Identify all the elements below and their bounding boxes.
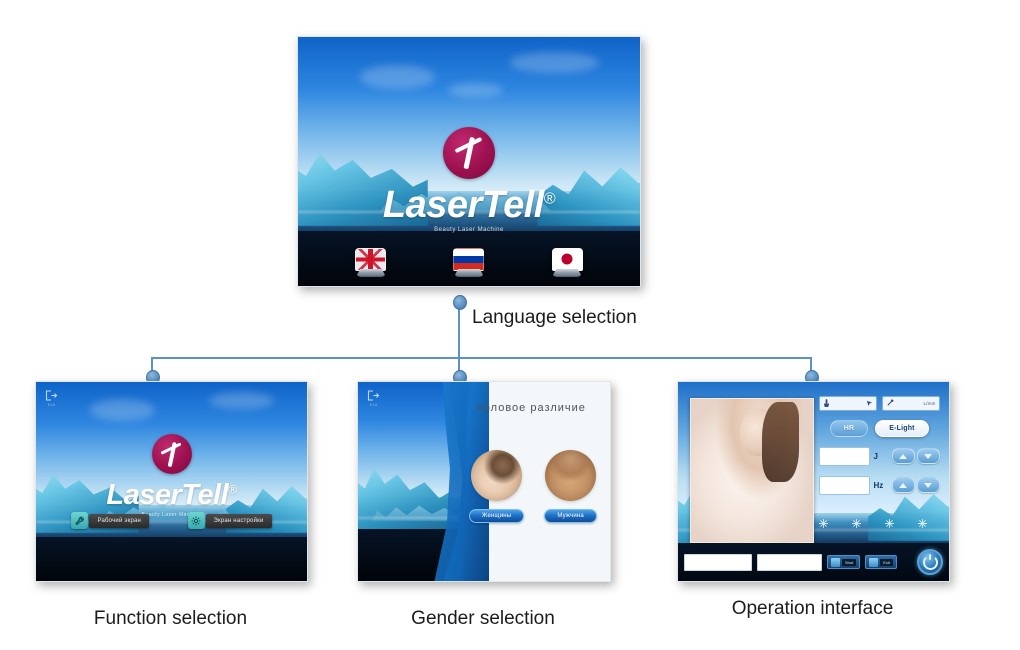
brand-name-text: LaserTell: [383, 184, 544, 226]
frequency-decrease-button[interactable]: [917, 477, 940, 493]
brand-name-text: LaserTell: [106, 479, 228, 511]
energy-parameter-row: J: [819, 447, 940, 466]
energy-steppers: [892, 448, 940, 464]
laser-emitter-icon: [152, 434, 192, 474]
language-flag-bar: [298, 239, 640, 286]
mode-button-elight[interactable]: E-Light: [875, 420, 929, 437]
diagram-canvas: Language selection LaserTell® Beauty Las…: [0, 0, 1020, 650]
triangle-down-icon: [924, 483, 932, 488]
energy-decrease-button[interactable]: [917, 448, 940, 464]
function-button-settings-screen[interactable]: Экран настройки: [188, 512, 272, 529]
frequency-unit-label: Hz: [874, 481, 888, 490]
gender-screen-content: Exit половое различие Женщины Мужчина: [358, 382, 610, 581]
gender-option-female[interactable]: Женщины: [469, 450, 524, 523]
energy-unit-label: J: [874, 452, 888, 461]
female-model-photo: [471, 450, 522, 501]
connector-horizontal-bus: [151, 357, 811, 359]
language-screen-content: LaserTell® Beauty Laser Machine: [298, 37, 640, 286]
triangle-down-icon: [924, 454, 932, 459]
spot-size-icon: [886, 399, 894, 407]
registered-mark: ®: [544, 190, 555, 207]
gender-button-label: Женщины: [469, 509, 524, 523]
user-icon: [831, 558, 840, 567]
action-button-exit[interactable]: Exit: [865, 555, 897, 569]
action-button-label: Exit: [880, 559, 893, 566]
registered-mark: ®: [228, 482, 236, 496]
cooling-icon: [819, 515, 828, 533]
gender-button-label: Мужчина: [544, 509, 597, 523]
status-field-2[interactable]: [757, 554, 822, 571]
brand-logo: LaserTell® Beauty Laser Machine: [36, 434, 307, 518]
function-button-row: Рабочий экран Экран настройки: [36, 512, 307, 529]
flag-uk-icon: [355, 248, 386, 271]
frequency-steppers: [892, 477, 940, 493]
function-button-label: Рабочий экран: [89, 514, 149, 528]
action-button-shot[interactable]: Shot: [827, 555, 860, 569]
operation-screen-content: L/mm HR E-Light J Hz: [678, 382, 949, 581]
cloud-decoration: [510, 52, 599, 72]
screen-function-selection[interactable]: Exit LaserTell® Beauty Laser Machine Раб…: [35, 381, 308, 582]
status-field-1[interactable]: [684, 554, 752, 571]
gear-icon: [188, 512, 205, 529]
power-icon: [923, 555, 938, 570]
handpiece-icon: [823, 399, 830, 408]
energy-increase-button[interactable]: [892, 448, 915, 464]
caption-gender-selection: Gender selection: [357, 608, 609, 630]
brand-logo: LaserTell® Beauty Laser Machine: [298, 127, 640, 233]
triangle-up-icon: [899, 454, 907, 459]
screen-operation-interface[interactable]: L/mm HR E-Light J Hz: [677, 381, 950, 582]
chevron-selector-icon: [866, 400, 873, 407]
cloud-decoration: [360, 65, 435, 90]
action-button-label: Shot: [842, 559, 856, 566]
caption-operation-interface: Operation interface: [677, 598, 948, 620]
connector-label-language: Language selection: [472, 307, 637, 329]
flag-stand: [454, 269, 484, 277]
exit-icon[interactable]: Exit: [45, 390, 58, 407]
handpiece-selector[interactable]: [819, 396, 877, 411]
bottom-dark-band: [36, 537, 307, 581]
exit-label: Exit: [45, 402, 58, 407]
caption-function-selection: Function selection: [35, 608, 306, 630]
flag-stand: [356, 269, 386, 277]
operation-status-bar: Shot Exit: [678, 543, 949, 581]
brand-tagline: Beauty Laser Machine: [298, 227, 640, 233]
screen-icon: [869, 558, 878, 567]
screen-language-selection[interactable]: LaserTell® Beauty Laser Machine: [297, 36, 641, 287]
cooling-level-row: [819, 515, 927, 533]
language-button-russian[interactable]: [451, 248, 487, 277]
laser-emitter-icon: [443, 127, 495, 179]
flag-stand: [552, 269, 582, 277]
operation-selector-row: L/mm: [819, 396, 940, 411]
screen-gender-selection[interactable]: Exit половое различие Женщины Мужчина: [357, 381, 611, 582]
flag-russia-icon: [453, 248, 484, 271]
gender-options-panel: половое различие Женщины Мужчина: [459, 382, 610, 581]
gender-option-male[interactable]: Мужчина: [544, 450, 597, 523]
function-screen-content: Exit LaserTell® Beauty Laser Machine Раб…: [36, 382, 307, 581]
cooling-icon: [918, 515, 927, 533]
gender-panel-title: половое различие: [459, 402, 604, 414]
exit-label: Exit: [367, 402, 380, 407]
exit-icon[interactable]: Exit: [367, 390, 380, 407]
energy-value-field[interactable]: [819, 447, 870, 466]
mode-button-hr[interactable]: HR: [830, 420, 869, 437]
function-button-label: Экран настройки: [206, 514, 272, 528]
cooling-icon: [885, 515, 894, 533]
cloud-decoration: [209, 392, 274, 409]
wrench-icon: [71, 512, 88, 529]
brand-name: LaserTell®: [298, 186, 640, 224]
brand-name: LaserTell®: [36, 481, 307, 510]
gender-option-row: Женщины Мужчина: [459, 450, 607, 523]
cloud-decoration: [90, 399, 155, 421]
spot-size-value: L/mm: [923, 401, 935, 406]
male-model-photo: [545, 450, 596, 501]
triangle-up-icon: [899, 483, 907, 488]
frequency-parameter-row: Hz: [819, 476, 940, 495]
power-button[interactable]: [917, 549, 943, 575]
cloud-decoration: [448, 83, 503, 97]
frequency-increase-button[interactable]: [892, 477, 915, 493]
operation-mode-row: HR E-Light: [819, 420, 940, 437]
cooling-icon: [852, 515, 861, 533]
flag-japan-icon: [552, 248, 583, 271]
function-button-work-screen[interactable]: Рабочий экран: [71, 512, 149, 529]
spot-size-selector[interactable]: L/mm: [882, 396, 940, 411]
female-model-photo: [690, 398, 814, 543]
frequency-value-field[interactable]: [819, 476, 870, 495]
language-button-japanese[interactable]: [549, 248, 585, 277]
language-button-english[interactable]: [353, 248, 389, 277]
connector-dot-top: [453, 295, 467, 310]
